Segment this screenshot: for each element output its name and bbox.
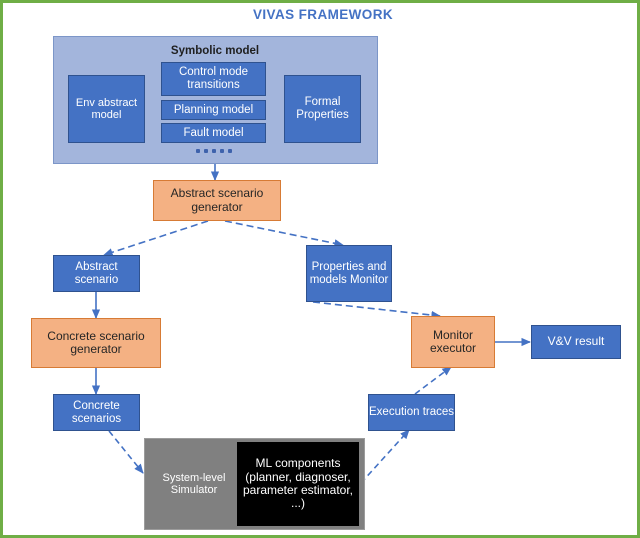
properties-and-models-monitor-box[interactable]: Properties and models Monitor bbox=[306, 245, 392, 302]
page-title: VIVAS FRAMEWORK bbox=[3, 7, 640, 22]
edge-generator-to-abstract-scenario bbox=[104, 221, 208, 255]
edge-generator-to-properties-monitor bbox=[225, 221, 343, 245]
symbolic-model-label: Symbolic model bbox=[125, 43, 305, 59]
diagram-canvas: VIVAS FRAMEWORK Symbolic model Env abstr… bbox=[0, 0, 640, 538]
env-abstract-model-box[interactable]: Env abstract model bbox=[68, 75, 145, 143]
abstract-scenario-box[interactable]: Abstract scenario bbox=[53, 255, 140, 292]
monitor-executor-box[interactable]: Monitor executor bbox=[411, 316, 495, 368]
concrete-scenarios-box[interactable]: Concrete scenarios bbox=[53, 394, 140, 431]
execution-traces-box[interactable]: Execution traces bbox=[368, 394, 455, 431]
concrete-scenario-generator-box[interactable]: Concrete scenario generator bbox=[31, 318, 161, 368]
edge-concrete-scenarios-to-simulator bbox=[109, 431, 143, 473]
system-level-simulator-label: System-level Simulator bbox=[150, 472, 238, 497]
control-mode-transitions-box[interactable]: Control mode transitions bbox=[161, 62, 266, 96]
symbolic-model-ellipsis-dots bbox=[161, 147, 266, 155]
formal-properties-box[interactable]: Formal Properties bbox=[284, 75, 361, 143]
vv-result-box[interactable]: V&V result bbox=[531, 325, 621, 359]
abstract-scenario-generator-box[interactable]: Abstract scenario generator bbox=[153, 180, 281, 221]
ml-components-box[interactable]: ML components (planner, diagnoser, param… bbox=[237, 442, 359, 526]
planning-model-box[interactable]: Planning model bbox=[161, 100, 266, 120]
edge-execution-traces-to-monitor-executor bbox=[415, 367, 451, 394]
edge-simulator-to-execution-traces bbox=[361, 430, 409, 483]
edge-properties-monitor-to-monitor-executor bbox=[313, 302, 440, 316]
fault-model-box[interactable]: Fault model bbox=[161, 123, 266, 143]
